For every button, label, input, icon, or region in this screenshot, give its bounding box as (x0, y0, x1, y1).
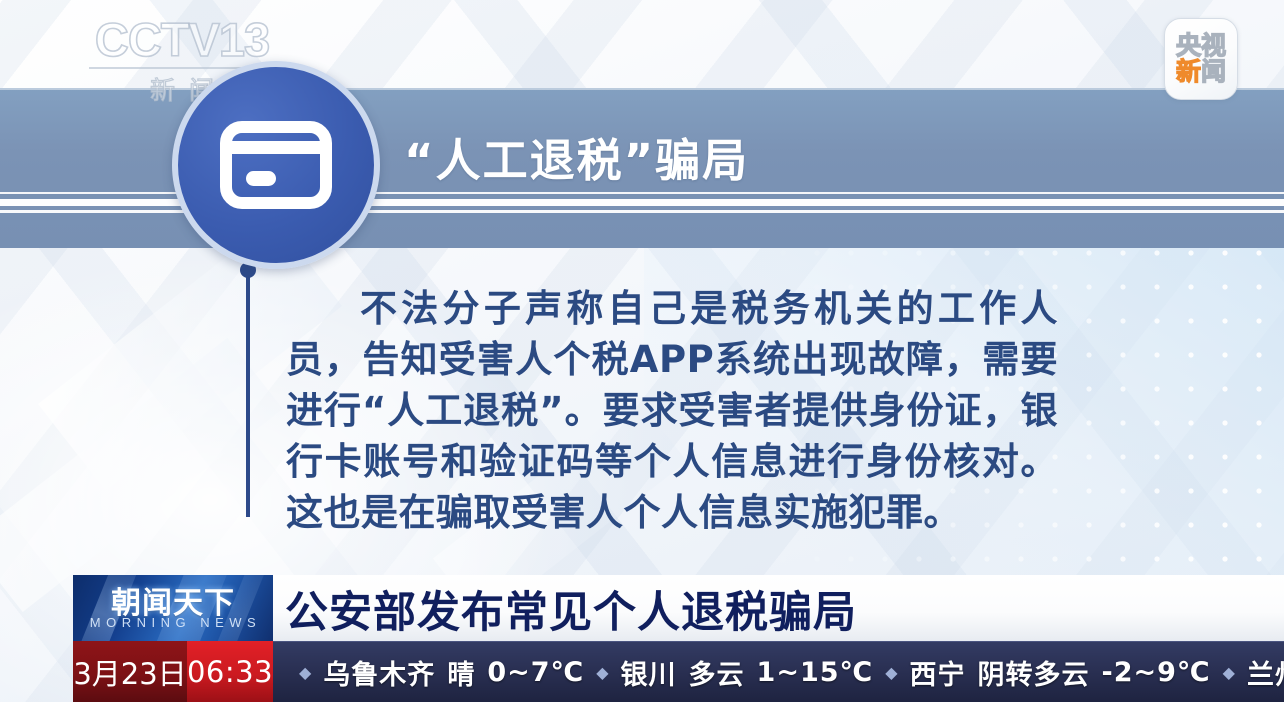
weather-ticker: ◆乌鲁木齐晴0~7℃◆银川多云1~15℃◆西宁阴转多云-2~9℃◆兰州 (273, 641, 1284, 702)
program-name-en: MORNING NEWS (73, 615, 273, 630)
app-badge-row-bottom: 新 闻 (1176, 59, 1226, 85)
app-badge-yangshi-text: 央视 (1176, 33, 1226, 59)
ticker-city: 银川 (621, 653, 677, 692)
header-band-top-edge (0, 88, 1284, 90)
ticker-separator-icon: ◆ (885, 663, 897, 683)
ticker-separator-icon: ◆ (1223, 663, 1235, 683)
program-logo: 朝闻天下 MORNING NEWS (73, 575, 273, 641)
app-badge-row-top: 央视 (1176, 33, 1226, 59)
headline-text: 公安部发布常见个人退税骗局 (285, 578, 857, 640)
page-title: “人工退税”骗局 (404, 124, 749, 189)
lower-third-bottom-row: 3月23日 06:33 ◆乌鲁木齐晴0~7℃◆银川多云1~15℃◆西宁阴转多云-… (73, 641, 1284, 702)
body-paragraph: 不法分子声称自己是税务机关的工作人员，告知受害人个税APP系统出现故障，需要进行… (286, 283, 1058, 538)
cctv-news-app-badge: 央视 新 闻 (1164, 18, 1238, 100)
headline-bar: 公安部发布常见个人退税骗局 (273, 575, 1284, 642)
time-box: 06:33 (187, 641, 273, 702)
ticker-condition: 晴 (447, 653, 475, 692)
ticker-temperature: -2~9℃ (1102, 657, 1211, 688)
ticker-condition: 阴转多云 (978, 653, 1090, 692)
credit-card-icon-badge (172, 61, 380, 269)
time-text: 06:33 (187, 655, 273, 689)
ticker-city: 西宁 (910, 653, 966, 692)
ticker-temperature: 1~15℃ (757, 657, 874, 688)
ticker-separator-icon: ◆ (299, 663, 311, 683)
ticker-city: 兰州 (1247, 653, 1284, 692)
ticker-city: 乌鲁木齐 (323, 653, 435, 692)
app-badge-wen-text: 闻 (1201, 59, 1226, 85)
ticker-temperature: 0~7℃ (487, 657, 584, 688)
date-text: 3月23日 (73, 651, 186, 693)
ticker-item: 西宁阴转多云-2~9℃ (910, 653, 1211, 692)
connector-line (246, 272, 250, 517)
broadcast-screen: CCTV13 新闻 央视 新 闻 “人工退税”骗局 不法分子声称自己是税务机关 (0, 0, 1284, 702)
ticker-separator-icon: ◆ (596, 663, 608, 683)
credit-card-icon (220, 121, 332, 209)
lower-third-top-row: 朝闻天下 MORNING NEWS 公安部发布常见个人退税骗局 (73, 575, 1284, 641)
lower-third: 朝闻天下 MORNING NEWS 公安部发布常见个人退税骗局 3月23日 06… (73, 575, 1284, 702)
ticker-item: 银川多云1~15℃ (621, 653, 874, 692)
ticker-item: 乌鲁木齐晴0~7℃ (323, 653, 584, 692)
date-box: 3月23日 (73, 641, 187, 702)
ticker-condition: 多云 (689, 653, 745, 692)
ticker-item: 兰州 (1247, 653, 1284, 692)
app-badge-xin-text: 新 (1176, 59, 1201, 85)
